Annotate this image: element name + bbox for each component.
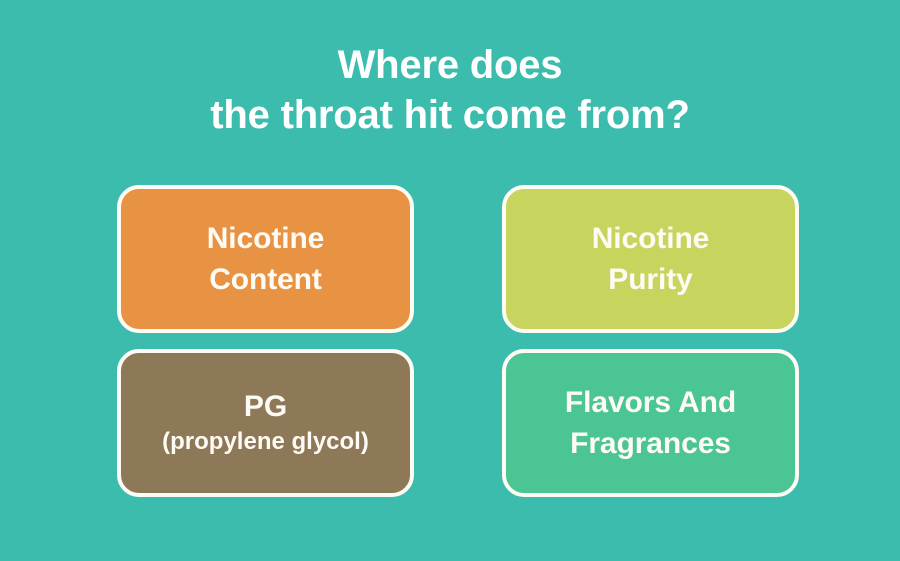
card-pg-line-1: PG — [244, 388, 287, 426]
page-title-line-1: Where does — [0, 40, 900, 90]
card-nicotine-content: Nicotine Content — [117, 185, 414, 333]
card-flavors-and-fragrances: Flavors And Fragrances — [502, 349, 799, 497]
card-pg: PG (propylene glycol) — [117, 349, 414, 497]
page-title-line-2: the throat hit come from? — [0, 90, 900, 140]
card-nicotine-purity-text: Nicotine Purity — [592, 218, 710, 300]
page-title: Where does the throat hit come from? — [0, 40, 900, 140]
card-flavors-and-fragrances-line-2: Fragrances — [565, 423, 736, 464]
card-flavors-and-fragrances-line-1: Flavors And — [565, 382, 736, 423]
card-nicotine-content-text: Nicotine Content — [207, 218, 325, 300]
card-pg-text: PG (propylene glycol) — [162, 388, 369, 458]
card-nicotine-purity-line-1: Nicotine — [592, 218, 710, 259]
card-nicotine-content-line-1: Nicotine — [207, 218, 325, 259]
factor-card-grid: Nicotine Content Nicotine Purity PG (pro… — [117, 185, 799, 497]
card-nicotine-content-label: Nicotine Content — [207, 218, 325, 300]
card-flavors-and-fragrances-label: Flavors And Fragrances — [565, 382, 736, 464]
card-nicotine-purity-line-2: Purity — [592, 259, 710, 300]
card-pg-subtitle: (propylene glycol) — [162, 426, 369, 458]
infographic-canvas: Where does the throat hit come from? Nic… — [0, 0, 900, 561]
card-nicotine-purity: Nicotine Purity — [502, 185, 799, 333]
card-nicotine-content-line-2: Content — [207, 259, 325, 300]
card-flavors-and-fragrances-text: Flavors And Fragrances — [565, 382, 736, 464]
card-pg-label: PG — [244, 388, 287, 426]
card-nicotine-purity-label: Nicotine Purity — [592, 218, 710, 300]
